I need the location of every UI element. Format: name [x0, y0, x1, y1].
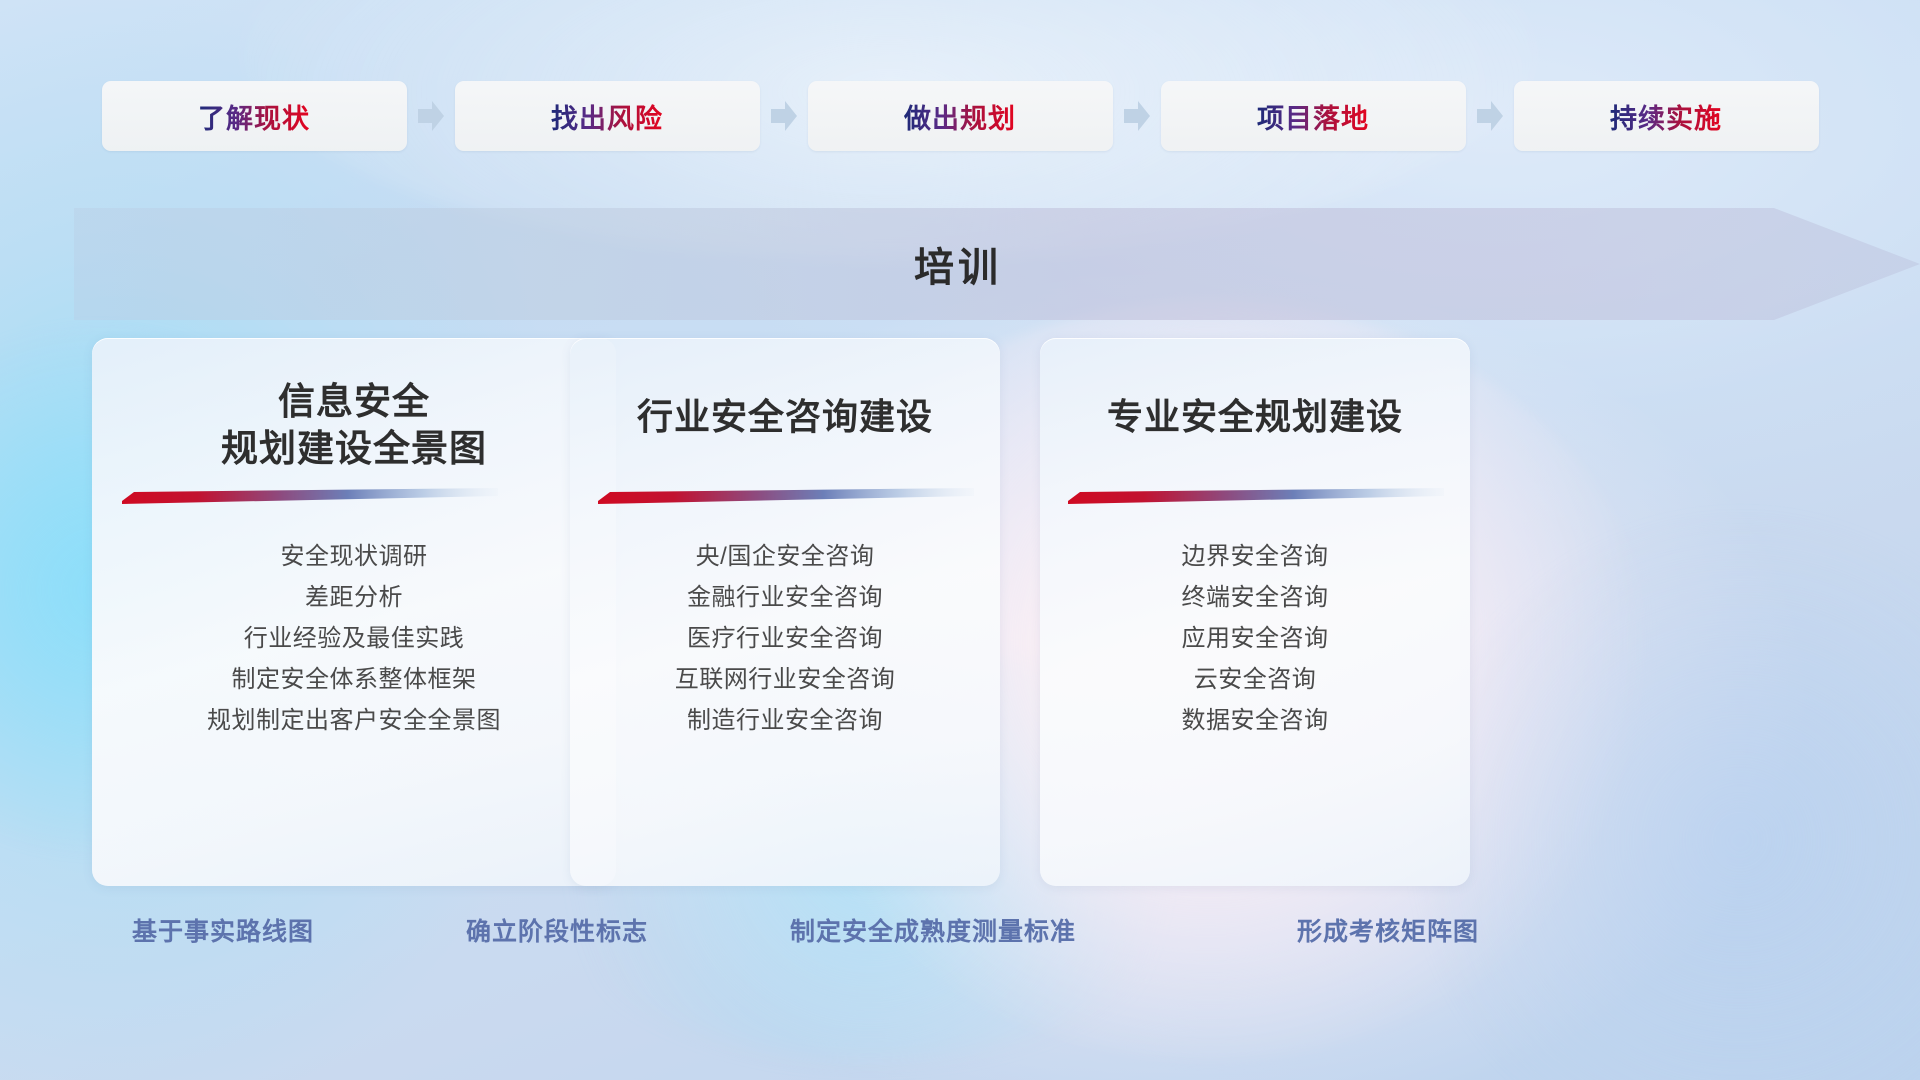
list-item: 制定安全体系整体框架 — [232, 659, 477, 700]
list-item: 云安全咨询 — [1194, 659, 1317, 700]
process-step-label: 持续实施 — [1610, 97, 1722, 136]
list-item: 医疗行业安全咨询 — [687, 618, 883, 659]
chevron-right-arrow-icon — [1124, 101, 1150, 131]
card-security-panorama[interactable]: 信息安全 规划建设全景图 — [92, 338, 616, 886]
footer-label: 基于事实路线图 — [132, 912, 314, 948]
infographic-canvas: 了解现状 找出风险 做出规划 项目落地 — [0, 0, 1920, 1080]
process-step-label: 了解现状 — [198, 97, 310, 136]
process-step-label: 做出规划 — [904, 97, 1016, 136]
card-item-list: 边界安全咨询 终端安全咨询 应用安全咨询 云安全咨询 数据安全咨询 — [1040, 536, 1470, 741]
list-item: 终端安全咨询 — [1182, 577, 1329, 618]
gradient-divider-icon — [1068, 488, 1444, 504]
gradient-divider-icon — [598, 488, 974, 504]
process-step-5[interactable]: 持续实施 — [1514, 81, 1819, 151]
card-industry-consulting[interactable]: 行业安全咨询建设 — [570, 338, 1000, 886]
list-item: 差距分析 — [305, 577, 403, 618]
footer-label: 制定安全成熟度测量标准 — [790, 912, 1076, 948]
footer-label-row: 基于事实路线图 确立阶段性标志 制定安全成熟度测量标准 形成考核矩阵图 — [0, 912, 1920, 956]
list-item: 数据安全咨询 — [1182, 700, 1329, 741]
process-step-1[interactable]: 了解现状 — [102, 81, 407, 151]
footer-label: 形成考核矩阵图 — [1297, 912, 1479, 948]
list-item: 行业经验及最佳实践 — [244, 618, 465, 659]
chevron-right-arrow-icon — [771, 101, 797, 131]
training-banner-label: 培训 — [74, 208, 1842, 320]
card-professional-planning[interactable]: 专业安全规划建设 — [1040, 338, 1470, 886]
process-step-label: 项目落地 — [1257, 97, 1369, 136]
list-item: 央/国企安全咨询 — [696, 536, 875, 577]
list-item: 安全现状调研 — [281, 536, 428, 577]
process-step-2[interactable]: 找出风险 — [455, 81, 760, 151]
card-item-list: 央/国企安全咨询 金融行业安全咨询 医疗行业安全咨询 互联网行业安全咨询 制造行… — [570, 536, 1000, 741]
training-banner: 培训 — [74, 208, 1920, 320]
card-row: 信息安全 规划建设全景图 — [0, 338, 1920, 894]
footer-label: 确立阶段性标志 — [466, 912, 648, 948]
list-item: 互联网行业安全咨询 — [675, 659, 896, 700]
process-step-label: 找出风险 — [551, 97, 663, 136]
list-item: 金融行业安全咨询 — [687, 577, 883, 618]
card-title: 专业安全规划建设 — [1040, 394, 1470, 440]
gradient-divider-icon — [122, 488, 498, 504]
card-item-list: 安全现状调研 差距分析 行业经验及最佳实践 制定安全体系整体框架 规划制定出客户… — [92, 536, 616, 741]
chevron-right-arrow-icon — [1477, 101, 1503, 131]
list-item: 制造行业安全咨询 — [687, 700, 883, 741]
list-item: 边界安全咨询 — [1182, 536, 1329, 577]
process-step-3[interactable]: 做出规划 — [808, 81, 1113, 151]
list-item: 规划制定出客户安全全景图 — [207, 700, 501, 741]
list-item: 应用安全咨询 — [1182, 618, 1329, 659]
process-step-row: 了解现状 找出风险 做出规划 项目落地 — [0, 78, 1920, 154]
card-title: 信息安全 规划建设全景图 — [92, 378, 616, 473]
card-title: 行业安全咨询建设 — [570, 394, 1000, 440]
chevron-right-arrow-icon — [418, 101, 444, 131]
process-step-4[interactable]: 项目落地 — [1161, 81, 1466, 151]
